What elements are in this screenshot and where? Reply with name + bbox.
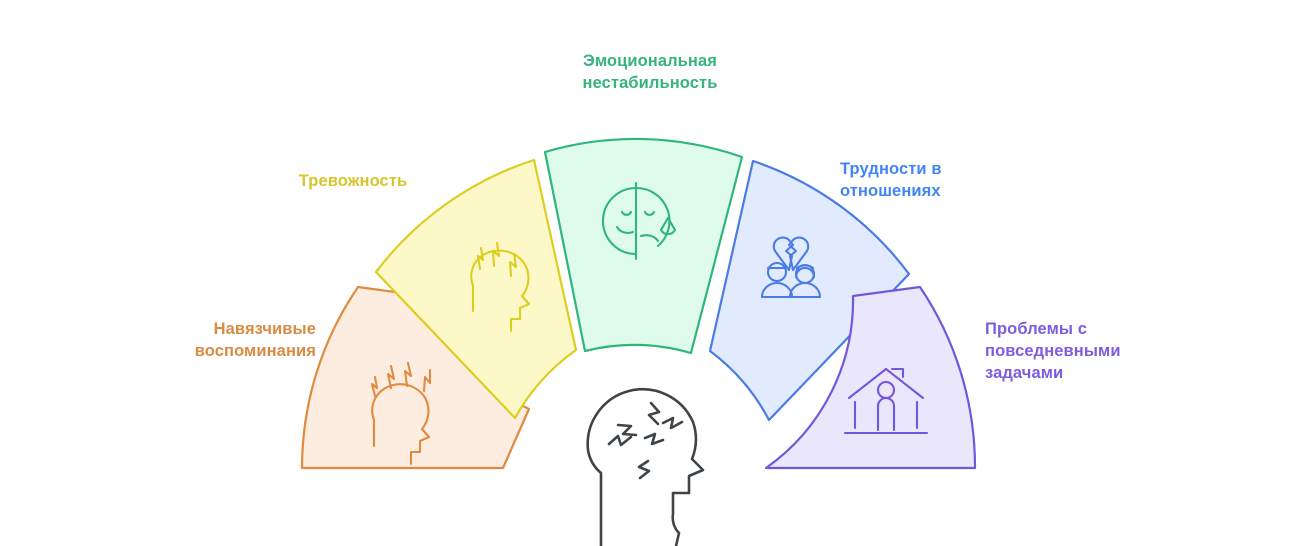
diagram-canvas: Навязчивые воспоминания Тревожность Эмоц… bbox=[0, 0, 1300, 546]
segment-label-daily-task-problems: Проблемы с повседневными задачами bbox=[985, 318, 1165, 384]
segment-emotional-instability[interactable] bbox=[545, 139, 742, 353]
segment-label-anxiety: Тревожность bbox=[278, 170, 428, 192]
segment-label-relationship-difficulties: Трудности в отношениях bbox=[840, 158, 990, 202]
segment-label-obsessive-memories: Навязчивые воспоминания bbox=[166, 318, 316, 362]
segment-emotional-instability-shape[interactable] bbox=[545, 139, 742, 353]
segment-label-emotional-instability: Эмоциональная нестабильность bbox=[540, 50, 760, 94]
head-with-chaotic-thoughts-icon bbox=[588, 389, 703, 546]
